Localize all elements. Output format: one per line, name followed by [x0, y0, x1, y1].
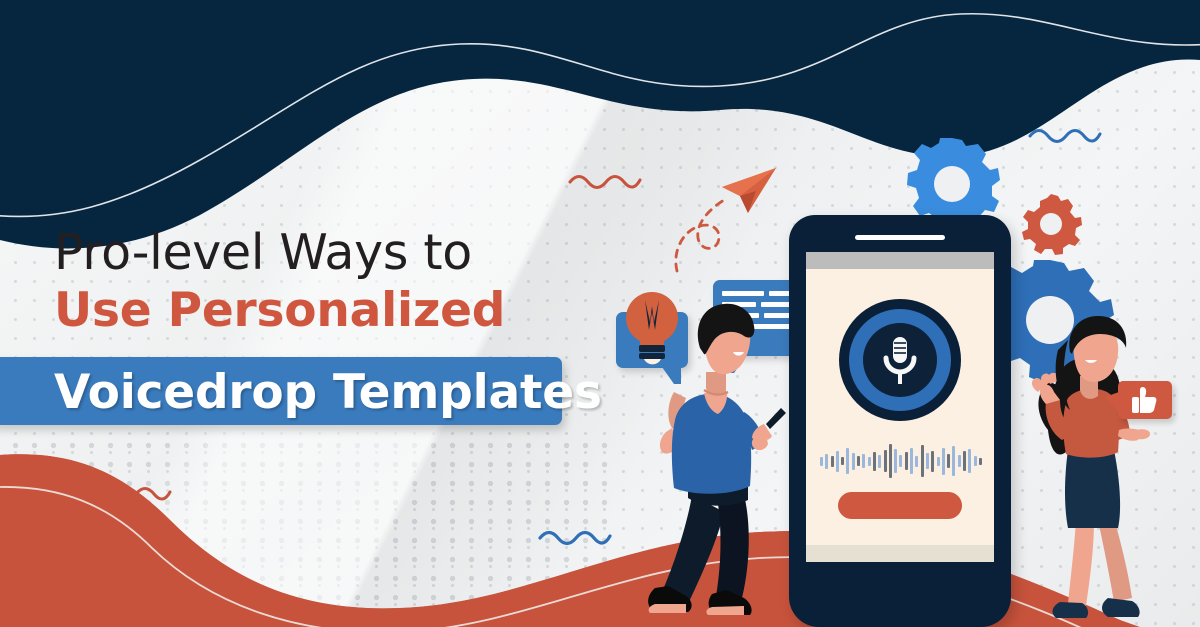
mic-ring: [849, 309, 951, 411]
banner-root: Pro-level Ways to Use Personalized Voice…: [0, 0, 1200, 627]
waveform-bar: [820, 457, 823, 466]
phone-screen: [806, 252, 994, 562]
waveform-bar: [852, 453, 855, 470]
audio-waveform: [820, 442, 982, 480]
waveform-bar: [894, 449, 897, 473]
waveform-bar: [857, 456, 860, 466]
waveform-bar: [947, 454, 950, 468]
bubble-tail: [1105, 392, 1119, 412]
squiggle-blue-right-icon: [1030, 131, 1100, 142]
gear-red-small-icon: [1022, 194, 1082, 255]
waveform-bar: [979, 458, 982, 465]
waveform-bar: [899, 455, 902, 467]
waveform-bar: [952, 446, 955, 476]
waveform-bar: [868, 457, 871, 466]
microphone-record-button[interactable]: [839, 299, 961, 421]
screen-status-bar: [806, 252, 994, 269]
waveform-bar: [963, 451, 966, 471]
bubble-tail: [727, 355, 747, 373]
waveform-bar: [968, 449, 971, 473]
waveform-bar: [926, 453, 929, 469]
waveform-bar: [937, 457, 940, 466]
phone-earpiece: [855, 235, 945, 240]
waveform-bar: [915, 456, 918, 467]
waveform-bar: [831, 456, 834, 467]
waveform-bar: [836, 451, 839, 472]
waveform-bar: [905, 452, 908, 470]
headline-line-3: Voicedrop Templates: [54, 369, 602, 416]
record-action-bar[interactable]: [838, 492, 962, 519]
waveform-bar: [974, 456, 977, 466]
bubble-tail: [662, 367, 681, 384]
screen-nav-bar: [806, 545, 994, 562]
headline-block: Pro-level Ways to Use Personalized Voice…: [0, 0, 620, 627]
thumbs-up-icon: [1118, 381, 1172, 419]
waveform-bar: [942, 448, 945, 475]
waveform-bar: [862, 454, 865, 468]
waveform-bar: [873, 452, 876, 471]
waveform-bar: [931, 451, 934, 472]
mic-inner-circle: [863, 323, 937, 397]
microphone-icon: [863, 323, 937, 397]
waveform-bar: [889, 444, 892, 478]
waveform-bar: [846, 448, 849, 474]
headline-line-1: Pro-level Ways to: [54, 228, 472, 277]
waveform-bar: [884, 450, 887, 472]
plane-dashed-trail-icon: [676, 200, 724, 271]
waveform-bar: [878, 455, 881, 468]
idea-lightbulb-bubble: [616, 312, 688, 368]
smartphone-mockup: [789, 215, 1011, 627]
waveform-bar: [910, 448, 913, 474]
waveform-bar: [958, 455, 961, 467]
waveform-bar: [921, 445, 924, 477]
waveform-bar: [841, 457, 844, 465]
headline-line-2: Use Personalized: [54, 287, 505, 334]
thumbs-up-bubble: [1118, 381, 1172, 419]
waveform-bar: [825, 454, 828, 469]
paper-plane-icon: [722, 168, 776, 213]
